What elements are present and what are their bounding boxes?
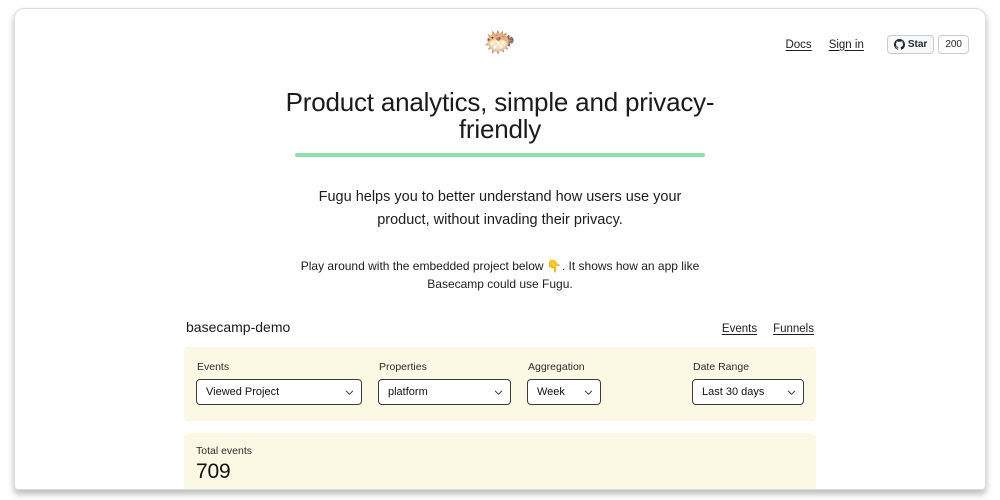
tab-funnels[interactable]: Funnels: [773, 323, 814, 335]
github-star-button[interactable]: Star: [887, 35, 934, 54]
filter-aggregation-label: Aggregation: [527, 361, 601, 373]
hero-note-before: Play around with the embedded project be…: [301, 259, 547, 273]
hero-section: Product analytics, simple and privacy-fr…: [15, 71, 985, 293]
aggregation-select-value: Week: [537, 386, 565, 398]
events-select-value: Viewed Project: [206, 386, 279, 398]
github-star-label: Star: [908, 39, 927, 50]
total-events-label: Total events: [196, 445, 804, 457]
hero-subtitle: Fugu helps you to better understand how …: [308, 186, 693, 231]
filter-events: Events Viewed Project: [196, 361, 362, 405]
github-star-count[interactable]: 200: [938, 35, 969, 54]
browser-frame: 🐡 Docs Sign in Star 200 Product analytic…: [14, 8, 986, 490]
chevron-down-icon: [787, 388, 796, 397]
demo-tabs: Events Funnels: [722, 323, 814, 335]
properties-select[interactable]: platform: [378, 379, 511, 405]
filter-aggregation: Aggregation Week: [527, 361, 601, 405]
nav-right-group: Docs Sign in Star 200: [785, 35, 969, 54]
filter-date-range: Date Range Last 30 days: [692, 361, 804, 405]
page-title: Product analytics, simple and privacy-fr…: [285, 89, 715, 143]
filter-events-label: Events: [196, 361, 362, 373]
date-range-select-value: Last 30 days: [702, 386, 764, 398]
filters-panel: Events Viewed Project Properties platfor…: [184, 347, 816, 421]
chevron-down-icon: [345, 388, 354, 397]
pufferfish-logo-icon: 🐡: [484, 29, 516, 55]
events-select[interactable]: Viewed Project: [196, 379, 362, 405]
filter-date-range-label: Date Range: [692, 361, 804, 373]
total-events-value: 709: [196, 460, 804, 484]
demo-project-name: basecamp-demo: [186, 319, 290, 335]
embedded-demo: basecamp-demo Events Funnels Events View…: [184, 319, 816, 490]
demo-header: basecamp-demo Events Funnels: [184, 319, 816, 335]
properties-select-value: platform: [388, 386, 428, 398]
hero-note: Play around with the embedded project be…: [300, 257, 700, 293]
date-range-select[interactable]: Last 30 days: [692, 379, 804, 405]
tab-events[interactable]: Events: [722, 323, 757, 335]
chevron-down-icon: [584, 388, 593, 397]
title-accent-rule: [295, 153, 705, 157]
github-mark-icon: [894, 39, 905, 50]
top-navigation: 🐡 Docs Sign in Star 200: [15, 9, 985, 71]
filter-properties: Properties platform: [378, 361, 511, 405]
github-star-widget[interactable]: Star 200: [887, 35, 969, 54]
chart-panel: Total events 709 9080: [184, 433, 816, 490]
aggregation-select[interactable]: Week: [527, 379, 601, 405]
nav-link-sign-in[interactable]: Sign in: [829, 39, 864, 51]
nav-link-docs[interactable]: Docs: [785, 39, 811, 51]
filter-properties-label: Properties: [378, 361, 511, 373]
pointing-down-icon: 👇: [547, 259, 562, 273]
chevron-down-icon: [494, 388, 503, 397]
